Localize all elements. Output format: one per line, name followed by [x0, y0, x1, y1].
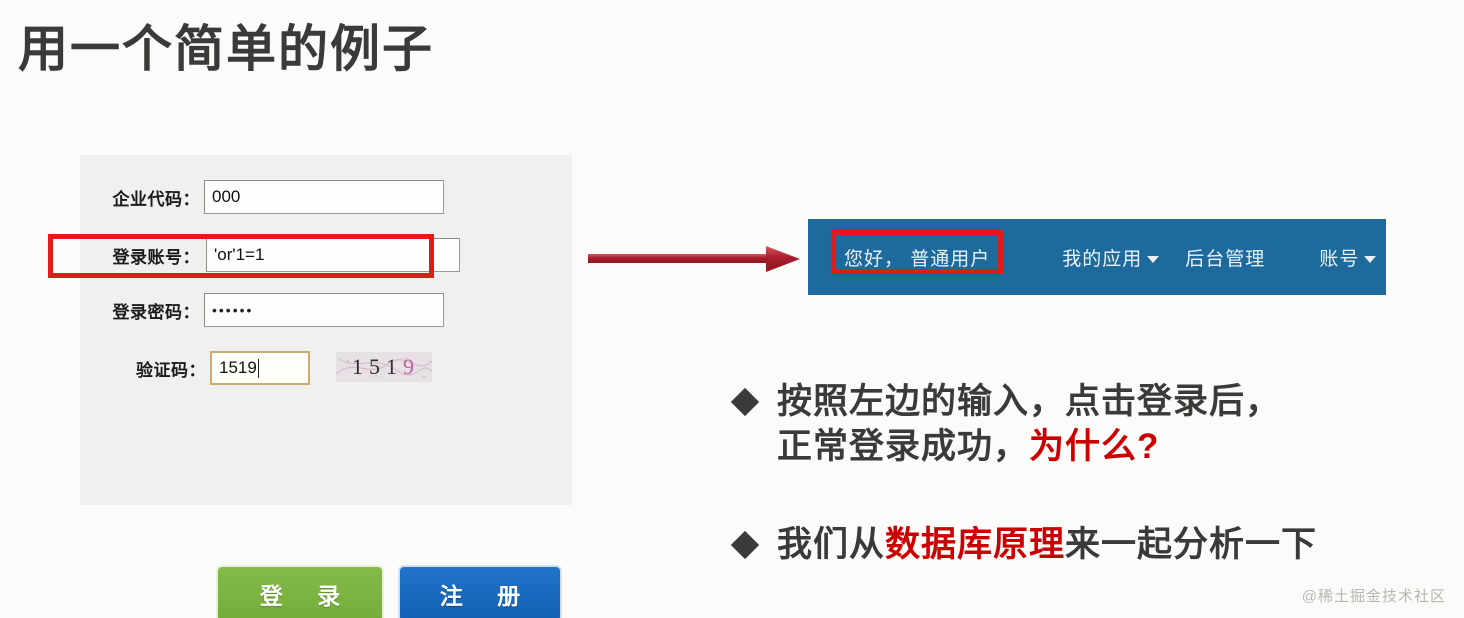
- navbar-item-account-label: 账号: [1319, 244, 1359, 271]
- bullet-2-prefix: 我们从: [777, 525, 885, 564]
- label-company-code: 企业代码：: [88, 185, 204, 210]
- text-caret: [258, 359, 259, 378]
- navbar-item-admin[interactable]: 后台管理: [1185, 244, 1265, 271]
- captcha-digit-1: 1: [352, 354, 365, 380]
- bullet-item-2-text: 我们从数据库原理来一起分析一下: [777, 523, 1317, 568]
- navbar-item-account[interactable]: 账号: [1319, 244, 1376, 271]
- bullet-1-line-2: 正常登录成功，为什么?: [777, 425, 1281, 470]
- form-row-company-code: 企业代码： 000: [88, 180, 444, 214]
- bullet-item-1-text: 按照左边的输入，点击登录后， 正常登录成功，为什么?: [777, 380, 1281, 470]
- navbar-greeting: 您好， 普通用户: [844, 244, 990, 271]
- bullet-2-emphasis: 数据库原理: [885, 525, 1065, 564]
- login-form-panel: 企业代码： 000 登录账号： 'or'1=1 登录密码： •••••• 验证码…: [80, 155, 572, 505]
- captcha-digit-3: 1: [386, 354, 399, 380]
- arrow-right-icon: [588, 243, 806, 275]
- captcha-digit-4: 9: [403, 354, 416, 380]
- form-row-login-account: 登录账号： 'or'1=1: [88, 238, 460, 272]
- login-button[interactable]: 登 录: [216, 565, 384, 618]
- form-row-captcha: 验证码： 1519: [94, 351, 310, 385]
- bullet-1-emphasis: 为什么?: [1029, 427, 1159, 466]
- input-captcha[interactable]: 1519: [210, 351, 310, 385]
- navbar-item-my-apps[interactable]: 我的应用: [1062, 244, 1159, 271]
- form-row-login-password: 登录密码： ••••••: [88, 293, 444, 327]
- bullet-1-line-2-plain: 正常登录成功，: [777, 427, 1029, 466]
- navbar-item-my-apps-label: 我的应用: [1062, 244, 1142, 271]
- bullet-1-line-1: 按照左边的输入，点击登录后，: [777, 380, 1281, 425]
- label-captcha: 验证码：: [94, 356, 210, 381]
- captcha-image[interactable]: 1 5 1 9: [336, 352, 432, 382]
- captcha-digit-2: 5: [369, 354, 382, 380]
- diamond-bullet-icon: [731, 388, 759, 416]
- bullet-item-2: 我们从数据库原理来一起分析一下: [735, 523, 1317, 568]
- label-login-password: 登录密码：: [88, 298, 204, 323]
- label-login-account: 登录账号：: [88, 243, 204, 268]
- input-company-code[interactable]: 000: [204, 180, 444, 214]
- slide-canvas: 用一个简单的例子 企业代码： 000 登录账号： 'or'1=1 登录密码： •…: [0, 0, 1464, 618]
- logged-in-navbar: 您好， 普通用户 我的应用 后台管理 账号: [808, 219, 1386, 295]
- diamond-bullet-icon: [731, 531, 759, 559]
- captcha-noise-icon: [336, 352, 432, 382]
- bullet-2-suffix: 来一起分析一下: [1065, 525, 1317, 564]
- page-title: 用一个简单的例子: [18, 22, 434, 77]
- chevron-down-icon: [1147, 256, 1159, 263]
- watermark: @稀土掘金技术社区: [1302, 585, 1446, 606]
- input-login-password[interactable]: ••••••: [204, 293, 444, 327]
- register-button[interactable]: 注 册: [398, 565, 562, 618]
- chevron-down-icon: [1364, 256, 1376, 263]
- navbar-item-admin-label: 后台管理: [1185, 244, 1265, 271]
- input-login-account[interactable]: 'or'1=1: [206, 238, 460, 272]
- bullet-item-1: 按照左边的输入，点击登录后， 正常登录成功，为什么?: [735, 380, 1281, 470]
- captcha-input-value: 1519: [219, 358, 257, 378]
